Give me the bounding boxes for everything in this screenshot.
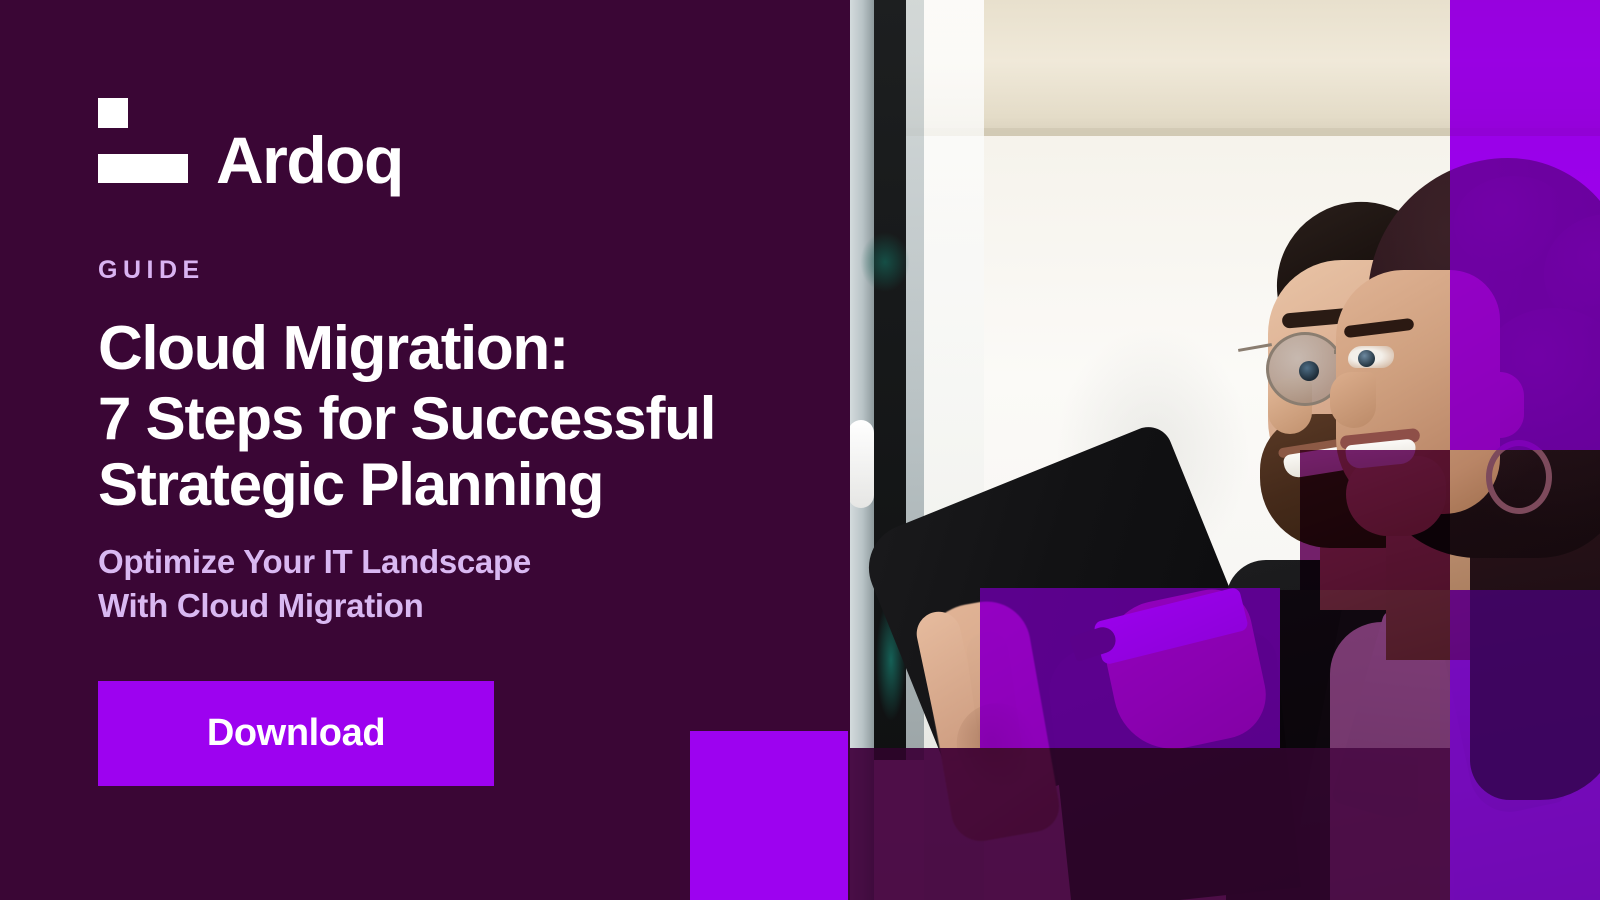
marketing-banner: Ardoq GUIDE Cloud Migration: 7 Steps for… [0, 0, 1600, 900]
subtitle-line-1: Optimize Your IT Landscape [98, 540, 718, 584]
eyeglass-temple [1238, 343, 1272, 352]
accent-block-bottom-left [690, 731, 848, 900]
download-button-label: Download [207, 712, 385, 755]
logo-square-icon [98, 98, 128, 128]
page-subtitle: Optimize Your IT Landscape With Cloud Mi… [98, 540, 718, 627]
headline-line-1: Cloud Migration: [98, 318, 798, 380]
page-title: Cloud Migration: 7 Steps for Successful … [98, 318, 798, 521]
foliage-smudge-upper [860, 232, 910, 292]
content-type-label: GUIDE [98, 258, 205, 283]
woman-blouse-placket [1418, 756, 1454, 900]
logo-bar-icon [98, 154, 188, 183]
photo-canvas [848, 0, 1600, 900]
headline-line-3: Strategic Planning [98, 455, 798, 515]
woman-pupil [1358, 350, 1375, 367]
brand-name: Ardoq [216, 133, 403, 187]
ardoq-logo-mark-icon [98, 98, 188, 183]
subtitle-line-2: With Cloud Migration [98, 584, 718, 628]
window-handle [848, 420, 874, 508]
hoop-earring-icon [1486, 440, 1552, 514]
person-woman [1300, 170, 1600, 900]
headline-line-2: 7 Steps for Successful [98, 389, 798, 449]
woman-nose [1330, 372, 1376, 428]
brand-logo[interactable]: Ardoq [98, 98, 403, 183]
download-button[interactable]: Download [98, 681, 494, 786]
hero-photo [848, 0, 1600, 900]
